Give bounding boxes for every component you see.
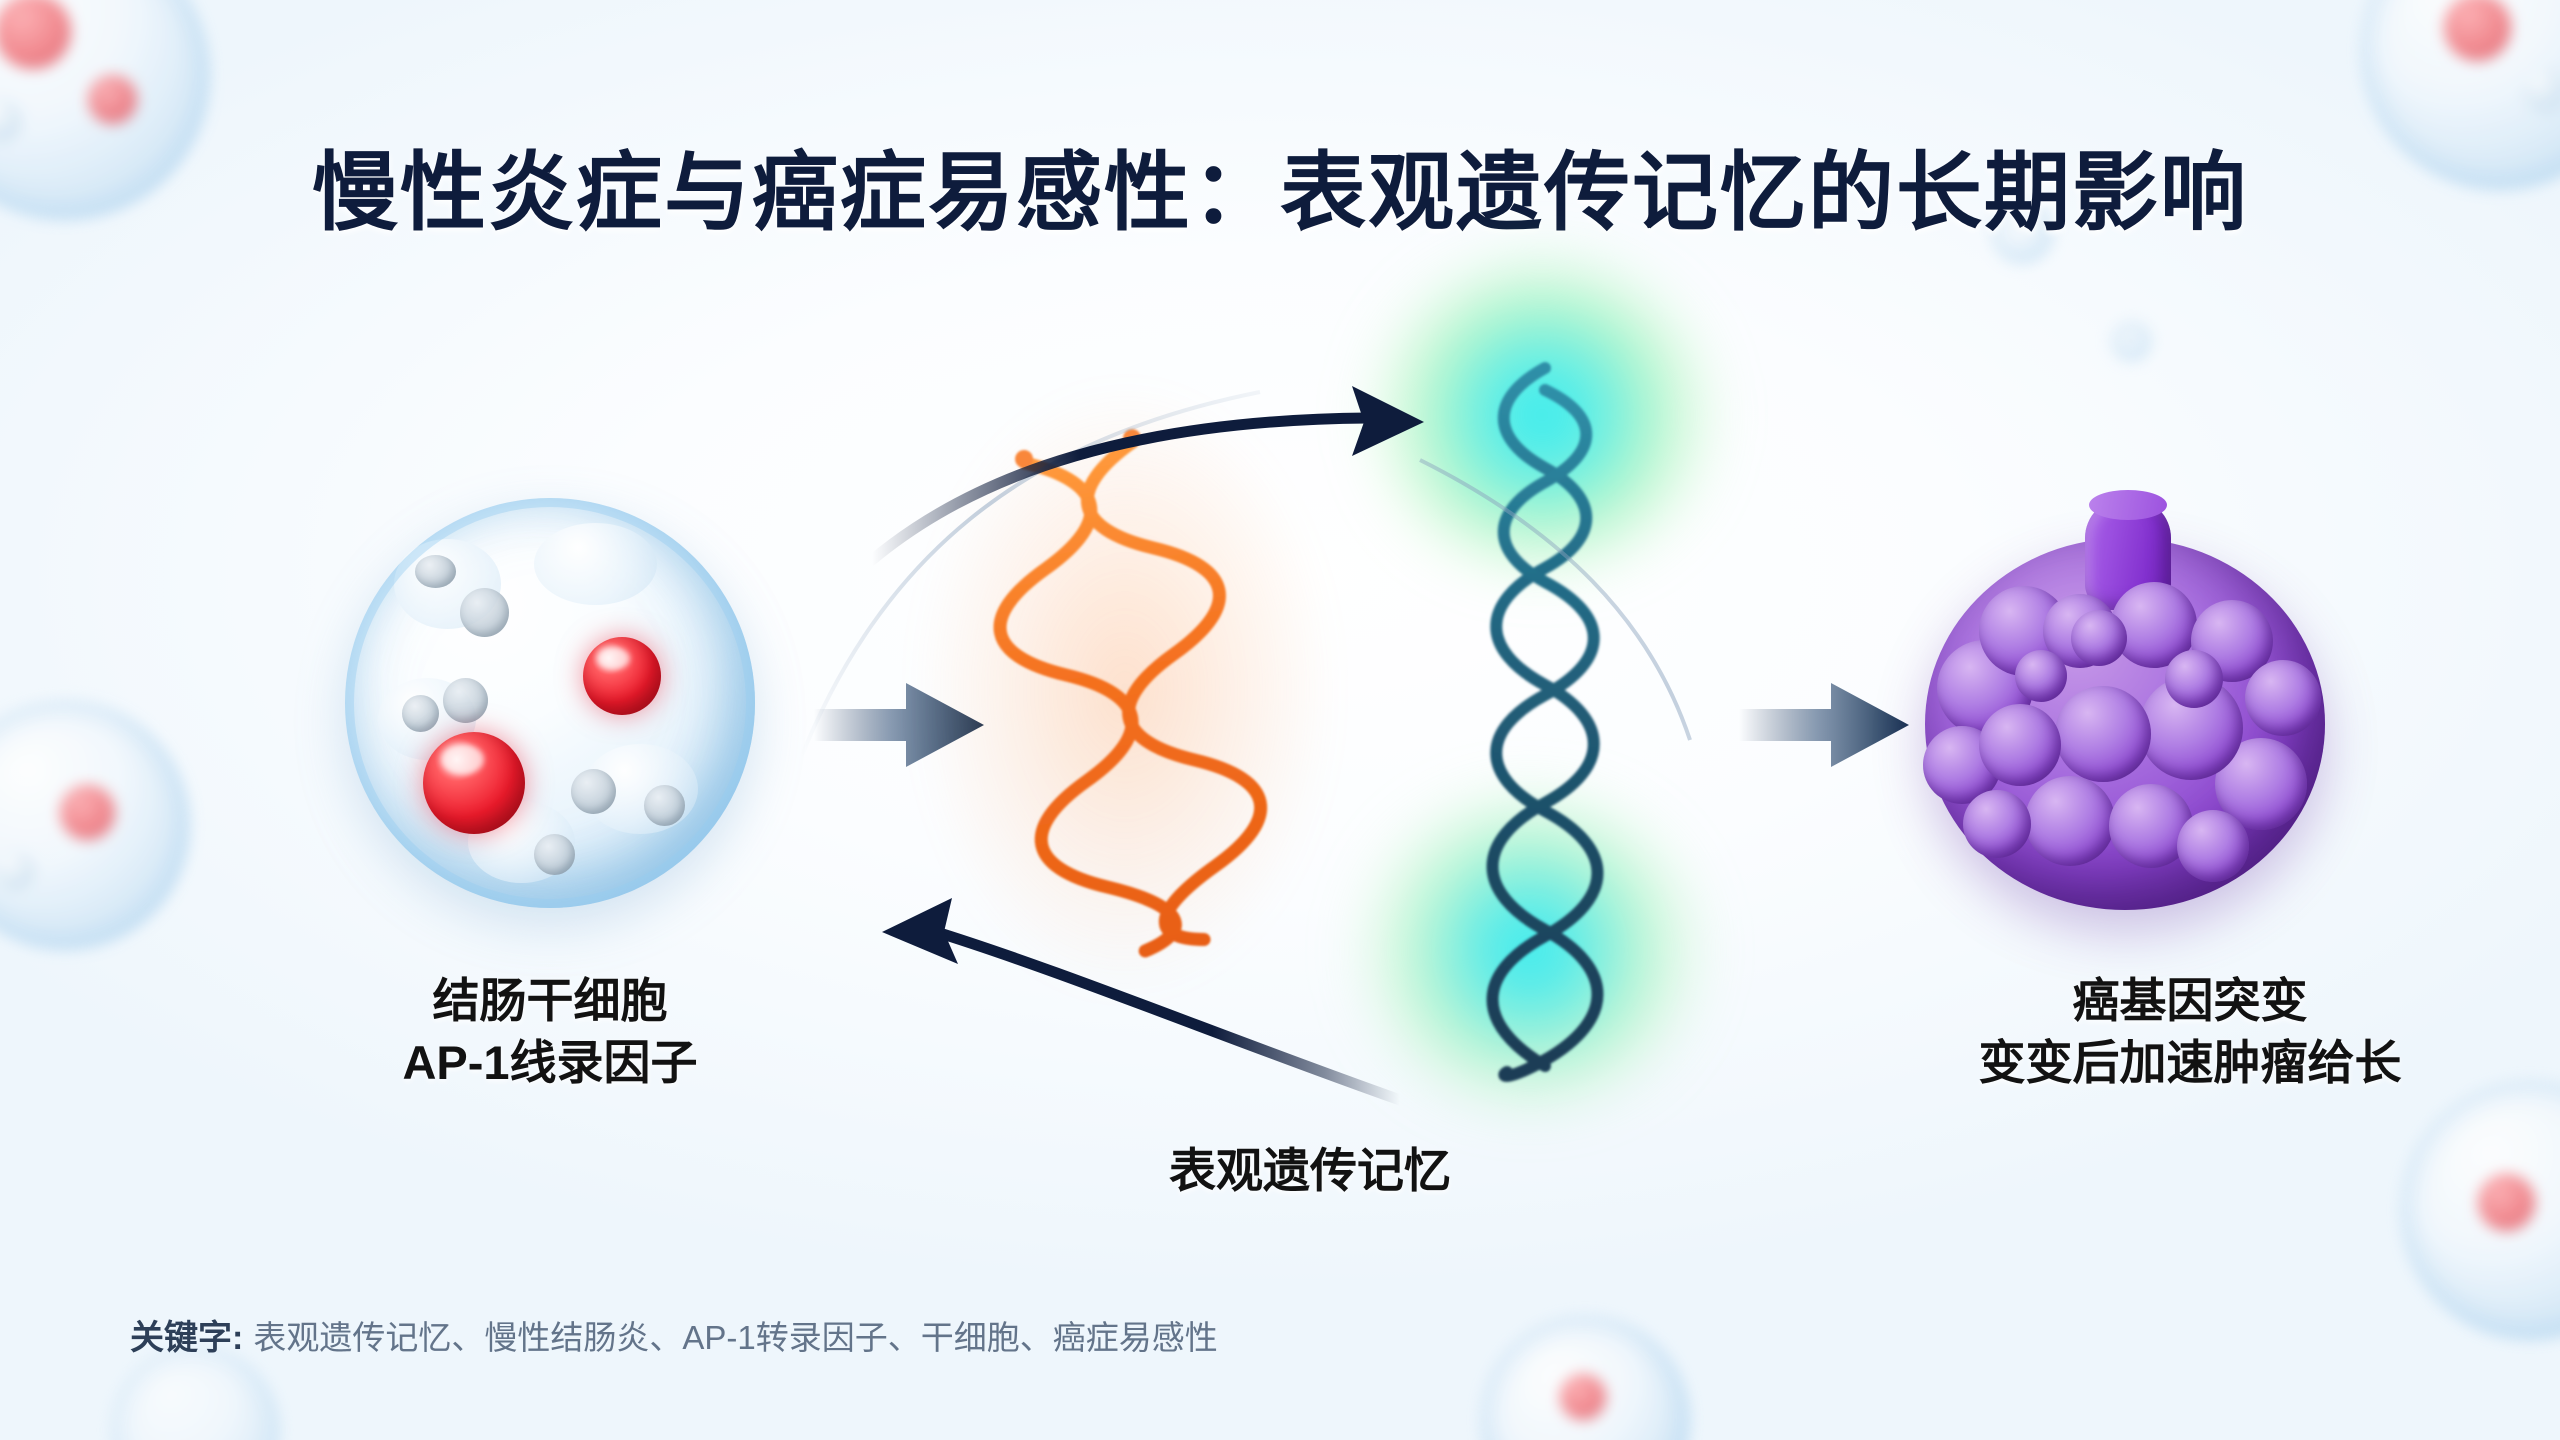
colon-stem-cell-icon [345, 498, 755, 908]
caption-line-1: 结肠干细胞 [245, 970, 855, 1032]
caption-oncogene-mutation: 癌基因突变 变变后加速肿瘤给长 [1820, 970, 2560, 1094]
caption-line-2: 变变后加速肿瘤给长 [1820, 1032, 2560, 1094]
keywords-footer: 关键字:表观遗传记忆、慢性结肠炎、AP-1转录因子、干细胞、癌症易感性 [130, 1310, 1218, 1359]
background-cell-decoration [2110, 320, 2152, 362]
caption-line-1: 癌基因突变 [1820, 970, 2560, 1032]
teal-dna-helix-icon [1395, 360, 1715, 1080]
background-cell-decoration [1480, 1315, 1690, 1440]
page-title: 慢性炎症与癌症易感性：表观遗传记忆的长期影响 [0, 122, 2560, 247]
caption-epigenetic-memory: 表观遗传记忆 [1100, 1140, 1520, 1202]
orange-dna-helix-icon [975, 430, 1275, 950]
caption-colon-stem-cell: 结肠干细胞 AP-1线录因子 [245, 970, 855, 1094]
purple-tumor-mass-icon [1915, 490, 2335, 910]
background-cell-decoration [110, 1345, 280, 1440]
background-cell-decoration [0, 700, 190, 950]
keywords-label: 关键字: [130, 1319, 243, 1357]
caption-line-2: AP-1线录因子 [245, 1032, 855, 1094]
keywords-list: 表观遗传记忆、慢性结肠炎、AP-1转录因子、干细胞、癌症易感性 [253, 1319, 1217, 1356]
arrow-right-icon [1735, 675, 1915, 775]
background-cell-decoration [2400, 1080, 2560, 1340]
infographic-canvas: 慢性炎症与癌症易感性：表观遗传记忆的长期影响 结肠干细胞 AP-1线录因子 [0, 0, 2560, 1440]
